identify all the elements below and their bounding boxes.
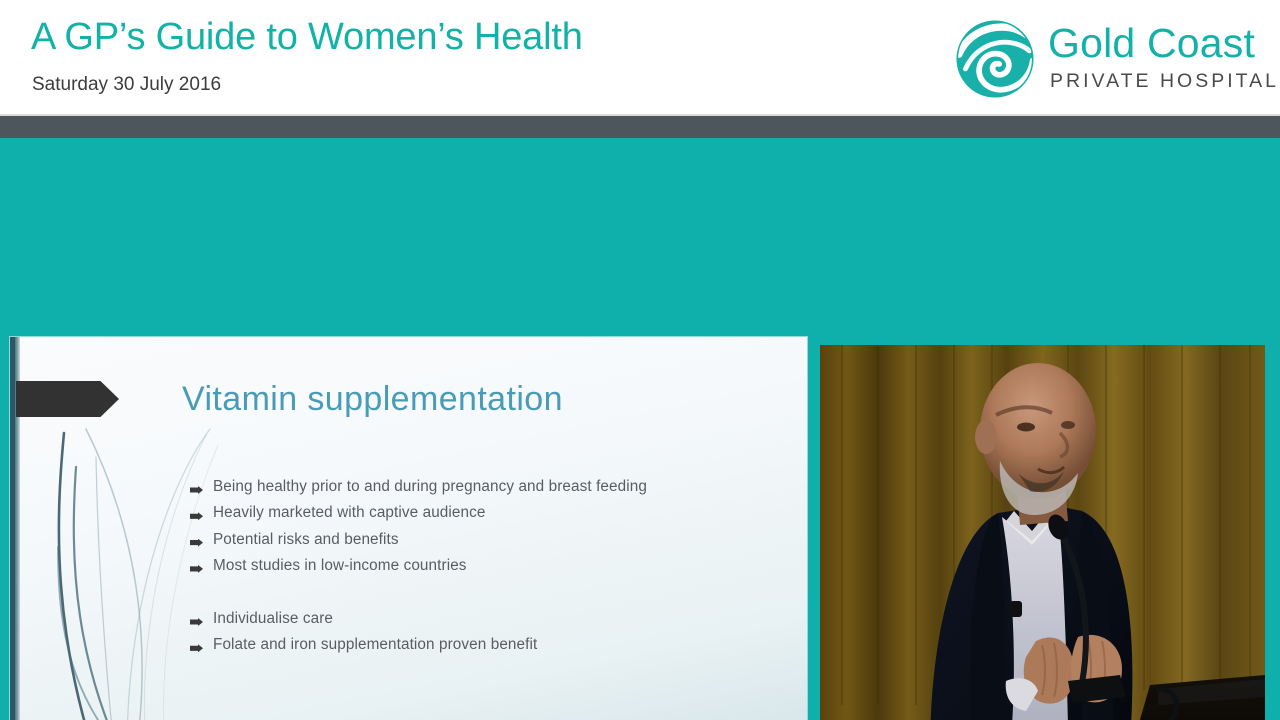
arrow-pennant-shape [16, 381, 119, 417]
arrow-bullet-icon [190, 644, 203, 652]
list-item: Most studies in low-income countries [190, 558, 647, 584]
arrow-bullet-icon [190, 539, 203, 547]
bullet-label: Potential risks and benefits [213, 532, 399, 547]
swirl-spiral-icon [954, 18, 1036, 100]
presentation-viewer: A GP’s Guide to Women’s Health Saturday … [0, 0, 1280, 720]
list-item: Folate and iron supplementation proven b… [190, 637, 537, 663]
speaker-video-panel[interactable] [820, 345, 1265, 720]
logo-name-primary: Gold Coast [1048, 20, 1255, 67]
slide-title: Vitamin supplementation [182, 380, 563, 419]
list-item: Individualise care [190, 611, 537, 637]
arrow-bullet-icon [190, 565, 203, 573]
content-area: Vitamin supplementation Being healthy pr… [0, 138, 1280, 720]
bullet-label: Folate and iron supplementation proven b… [213, 637, 537, 652]
bullet-label: Being healthy prior to and during pregna… [213, 479, 647, 494]
slide-left-accent-rail-dark [10, 337, 15, 720]
header-divider-bar [0, 116, 1280, 138]
logo-name-secondary: PRIVATE HOSPITAL [1050, 70, 1279, 93]
bullet-label: Most studies in low-income countries [213, 558, 467, 573]
speaker-at-podium-video-frame [820, 345, 1265, 720]
bullet-group-primary: Being healthy prior to and during pregna… [190, 479, 647, 584]
arrow-bullet-icon [190, 512, 203, 520]
list-item: Heavily marketed with captive audience [190, 505, 647, 531]
bullet-label: Individualise care [213, 611, 333, 626]
bullet-label: Heavily marketed with captive audience [213, 505, 485, 520]
page-title: A GP’s Guide to Women’s Health [31, 17, 583, 59]
brand-logo: Gold Coast PRIVATE HOSPITAL [954, 16, 1254, 102]
arrow-bullet-icon [190, 486, 203, 494]
arrow-bullet-icon [190, 618, 203, 626]
page-header: A GP’s Guide to Women’s Health Saturday … [0, 0, 1280, 116]
bullet-group-secondary: Individualise care Folate and iron suppl… [190, 611, 537, 664]
page-subtitle-date: Saturday 30 July 2016 [32, 74, 221, 96]
list-item: Being healthy prior to and during pregna… [190, 479, 647, 505]
list-item: Potential risks and benefits [190, 532, 647, 558]
slide-panel[interactable]: Vitamin supplementation Being healthy pr… [10, 337, 807, 720]
